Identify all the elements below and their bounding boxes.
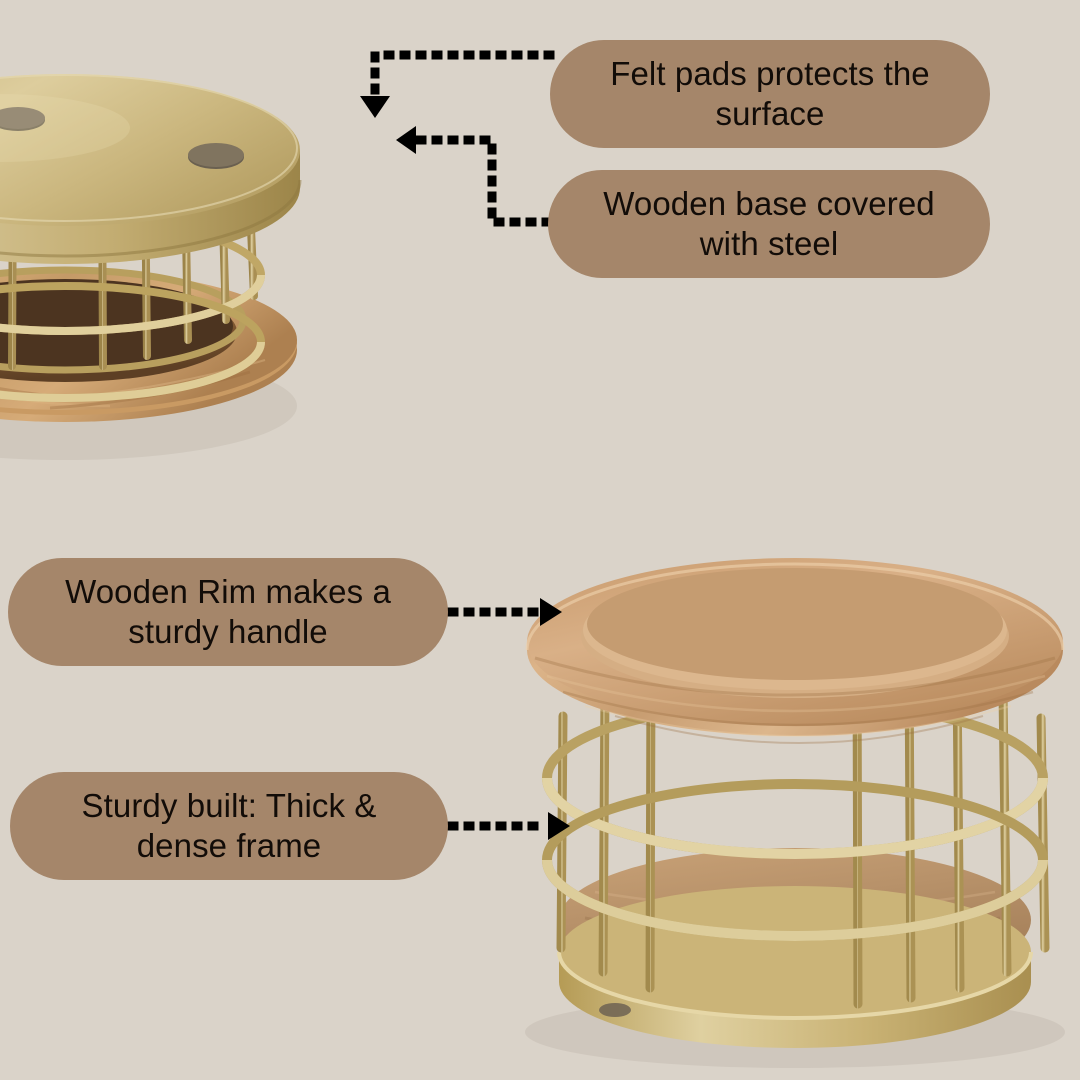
callout-wooden-base-label: Wooden base covered with steel — [574, 184, 964, 265]
callout-sturdy-frame-label: Sturdy built: Thick & dense frame — [36, 786, 422, 867]
callout-felt-pads-label: Felt pads protects the surface — [576, 54, 964, 135]
callout-felt-pads[interactable]: Felt pads protects the surface — [550, 40, 990, 148]
product-photo-tray-upright — [455, 520, 1080, 1080]
infographic-canvas: Felt pads protects the surface Wooden ba… — [0, 0, 1080, 1080]
callout-sturdy-frame[interactable]: Sturdy built: Thick & dense frame — [10, 772, 448, 880]
callout-wooden-base[interactable]: Wooden base covered with steel — [548, 170, 990, 278]
product-photo-tray-underside — [0, 20, 470, 490]
callout-wooden-rim[interactable]: Wooden Rim makes a sturdy handle — [8, 558, 448, 666]
callout-wooden-rim-label: Wooden Rim makes a sturdy handle — [34, 572, 422, 653]
